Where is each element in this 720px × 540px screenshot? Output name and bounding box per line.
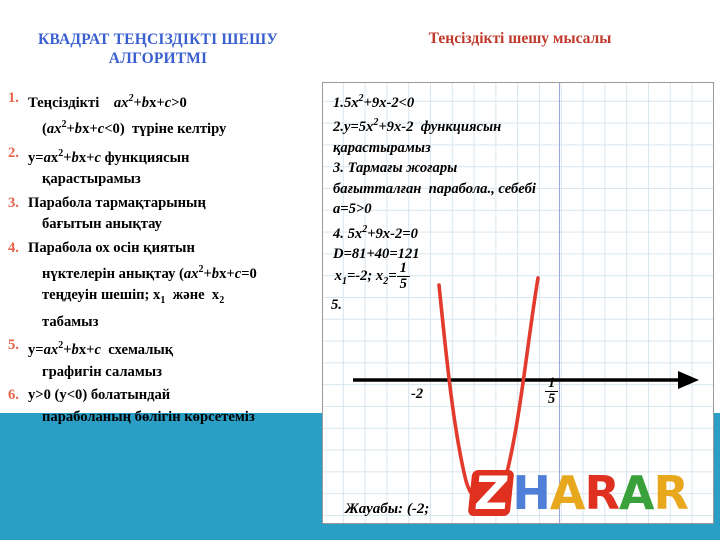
example-title: Теңсіздікті шешу мысалы: [330, 30, 710, 48]
x-axis-arrowhead: [678, 371, 699, 389]
list-item: 1. Теңсіздікті ах2+bx+c>0 (ax2+bx+c<0) т…: [6, 88, 316, 141]
list-item: 2. y=ax2+bx+c функциясын қарастырамыз: [6, 143, 316, 191]
watermark-letter-z: Z: [468, 470, 515, 516]
coordinate-plot: [323, 83, 713, 523]
root-label-right-denominator: 5: [545, 392, 558, 407]
list-item-line: Парабола ох осін қиятын: [28, 240, 195, 256]
list-item: 4. Парабола ох осін қиятын нүктелерін ан…: [6, 238, 316, 334]
list-item-line: y=ax2+bx+c схемалық: [28, 342, 173, 358]
list-item-line: графигін саламыз: [28, 362, 316, 384]
watermark-letter-a1: A: [550, 470, 585, 516]
list-item-line: (ax2+bx+c<0) түріне келтіру: [28, 114, 316, 140]
list-item-line: параболаның бөлігін көрсетеміз: [28, 407, 316, 429]
list-item: 6. y>0 (y<0) болатындай параболаның бөлі…: [6, 385, 316, 428]
list-item: 3. Парабола тармақтарының бағытын анықта…: [6, 193, 316, 236]
list-item-number: 6.: [8, 385, 19, 407]
example-graph-panel: 1.5x2+9x-2<0 2.y=5x2+9x-2 функциясын қар…: [322, 82, 714, 524]
root-label-right-fraction: 15: [545, 376, 558, 407]
root-label-right: 15: [545, 376, 558, 407]
watermark-letter-r2: R: [654, 470, 688, 516]
list-item: 5. y=ax2+bx+c схемалық графигін саламыз: [6, 335, 316, 383]
slide: КВАДРАТ ТЕҢСІЗДІКТІ ШЕШУ АЛГОРИТМІ 1. Те…: [0, 0, 720, 540]
list-item-number: 3.: [8, 193, 19, 215]
list-item-line: y=ax2+bx+c функциясын: [28, 150, 189, 166]
list-item-line: бағытын анықтау: [28, 214, 316, 236]
answer-line: Жауабы: (-2;: [345, 501, 429, 518]
algorithm-title: КВАДРАТ ТЕҢСІЗДІКТІ ШЕШУ АЛГОРИТМІ: [8, 30, 308, 68]
list-item-line: y>0 (y<0) болатындай: [28, 387, 170, 403]
list-item-line: табамыз: [28, 312, 316, 334]
list-item-number: 2.: [8, 143, 19, 165]
algorithm-list: 1. Теңсіздікті ах2+bx+c>0 (ax2+bx+c<0) т…: [6, 88, 316, 430]
list-item-line: Парабола тармақтарының: [28, 195, 206, 211]
watermark-letter-a2: A: [619, 470, 654, 516]
root-label-right-numerator: 1: [545, 376, 558, 392]
list-item-line: теңдеуін шешіп; x1 және x2: [28, 285, 316, 311]
watermark-letter-r1: R: [584, 470, 618, 516]
list-item-number: 5.: [8, 335, 19, 357]
watermark-letter-h: H: [512, 470, 550, 516]
root-label-left: -2: [411, 386, 423, 403]
list-item-line: нүктелерін анықтау (ax2+bx+c=0: [28, 259, 316, 285]
list-item-line: Теңсіздікті ах2+bx+c>0: [28, 95, 187, 111]
list-item-number: 4.: [8, 238, 19, 260]
list-item-line: қарастырамыз: [28, 169, 316, 191]
list-item-number: 1.: [8, 88, 19, 110]
watermark: ZHARAR: [470, 470, 688, 516]
